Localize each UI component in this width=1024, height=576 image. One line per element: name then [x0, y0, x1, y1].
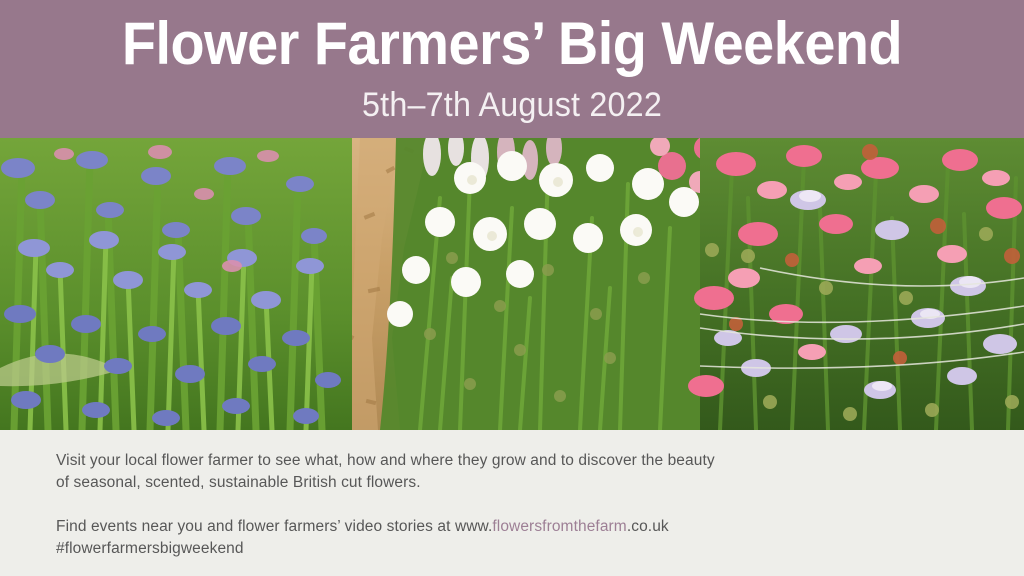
events-paragraph: Find events near you and flower farmers’… [56, 516, 816, 560]
flower-field-photo [0, 138, 1024, 430]
intro-line-2: of seasonal, scented, sustainable Britis… [56, 474, 421, 491]
header-band: Flower Farmers’ Big Weekend 5th–7th Augu… [0, 0, 1024, 138]
website-link[interactable]: flowersfromthefarm [492, 518, 626, 535]
event-dates: 5th–7th August 2022 [26, 86, 999, 124]
events-suffix: .co.uk [627, 518, 669, 535]
footer-copy: Visit your local flower farmer to see wh… [56, 450, 816, 560]
pink-scabious-bed [688, 138, 1024, 430]
white-scabious-bed [380, 138, 720, 430]
flower-field-illustration [0, 138, 1024, 430]
hashtag: #flowerfarmersbigweekend [56, 540, 244, 557]
page-title: Flower Farmers’ Big Weekend [36, 13, 988, 75]
events-prefix: Find events near you and flower farmers’… [56, 518, 492, 535]
footer-band: Visit your local flower farmer to see wh… [0, 430, 1024, 576]
poster: Flower Farmers’ Big Weekend 5th–7th Augu… [0, 0, 1024, 576]
intro-paragraph: Visit your local flower farmer to see wh… [56, 450, 816, 494]
intro-line-1: Visit your local flower farmer to see wh… [56, 452, 715, 469]
